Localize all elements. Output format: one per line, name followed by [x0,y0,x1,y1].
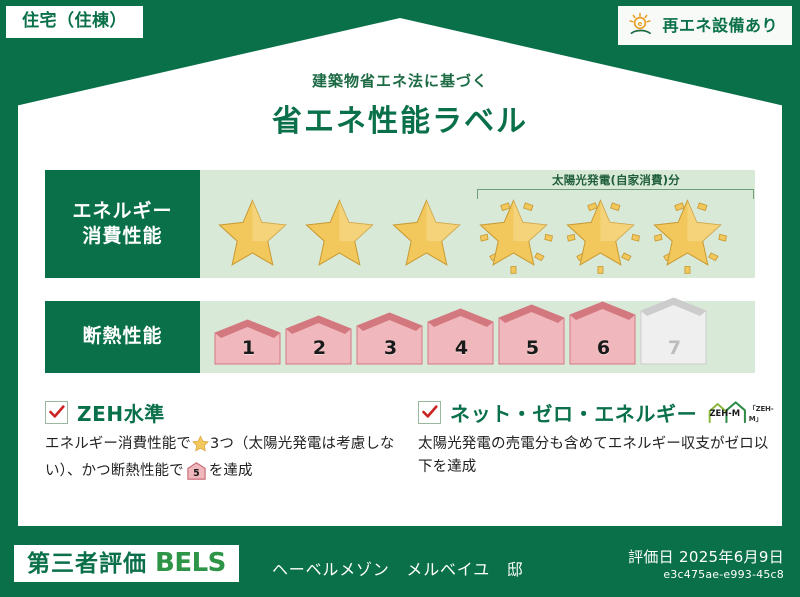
label-title: 省エネ性能ラベル [0,96,800,140]
star-solar [473,197,559,275]
bels-badge: 第三者評価 BELS [14,545,239,582]
evaluation-id: e3c475ae-e993-45c8 [663,568,784,581]
criterion-zeh-header: ZEH水準 [45,398,420,426]
star-filled [212,197,298,275]
insulation-level-achieved: 5 [498,303,567,366]
criterion-zeh: ZEH水準 エネルギー消費性能で 3つ（太陽光発電は考慮しない）、かつ断熱性能で… [45,398,420,489]
insulation-level-achieved: 6 [569,300,638,366]
criterion-zeh-body: エネルギー消費性能で 3つ（太陽光発電は考慮しない）、かつ断熱性能で 5 を達成 [45,433,420,489]
criterion-nze-title: ネット・ゼロ・エネルギー [450,398,697,427]
insulation-level-number: 5 [498,337,567,359]
criterion-nze-header: ネット・ゼロ・エネルギー ZEH-M 「ZEH-M」 [418,398,778,426]
star-rating-group [200,198,755,274]
label-subtitle: 建築物省エネ法に基づく [0,70,800,91]
star-solar [560,197,646,275]
building-type-chip: 住宅（住棟） [6,6,143,38]
energy-performance-row: エネルギー 消費性能 太陽光発電(自家消費)分 [45,170,755,278]
label-footer: 第三者評価 BELS ヘーベルメゾン メルベイユ 邸 評価日 2025年6月9日… [0,534,800,597]
insulation-level-achieved: 1 [214,318,283,366]
zeh-m-logo-text: ZEH-M [710,408,741,418]
criterion-zeh-text-pre: エネルギー消費性能で [45,436,191,452]
star-filled [299,197,385,275]
checkbox-zeh[interactable] [45,401,68,424]
renewable-equipment-label: 再エネ設備あり [662,18,778,34]
zeh-m-logo: ZEH-M 「ZEH-M」 [708,398,781,426]
insulation-level-number: 4 [427,337,496,359]
insulation-level-achieved: 2 [285,314,354,366]
evaluation-date: 評価日 2025年6月9日 [628,546,784,567]
solar-portion-note: 太陽光発電(自家消費)分 [475,172,757,188]
insulation-level-achieved: 3 [356,311,425,366]
energy-performance-label: 住宅（住棟） e 再エネ設備あり 建築物省エネ法に基づく 省エネ性能ラベル [0,0,800,597]
inline-house-badge: 5 [187,462,206,488]
insulation-level-group: 1 2 3 4 5 [200,301,755,373]
energy-rating-area: 太陽光発電(自家消費)分 [200,170,755,278]
energy-performance-label-block: エネルギー 消費性能 [45,170,200,278]
insulation-level-number: 3 [356,337,425,359]
renewable-equipment-badge: e 再エネ設備あり [618,6,792,45]
solar-sun-icon: e [628,12,654,39]
building-type-label: 住宅（住棟） [22,11,127,31]
insulation-performance-label-block: 断熱性能 [45,301,200,373]
energy-label-line2: 消費性能 [82,224,162,249]
bels-badge-jp: 第三者評価 [27,553,147,576]
check-icon [49,405,65,419]
energy-label-line1: エネルギー [72,199,172,224]
criterion-net-zero-energy: ネット・ゼロ・エネルギー ZEH-M 「ZEH-M」 太陽光発電の売電分も含めて… [418,398,778,480]
insulation-level-number: 6 [569,337,638,359]
checkbox-net-zero-energy[interactable] [418,401,441,424]
criterion-nze-body: 太陽光発電の売電分も含めてエネルギー収支がゼロ以下を達成 [418,433,778,480]
svg-text:e: e [638,20,643,28]
zeh-m-logo-caption: 「ZEH-M」 [749,404,781,426]
building-name: ヘーベルメゾン メルベイユ 邸 [272,556,524,580]
insulation-label: 断熱性能 [82,324,162,349]
star-solar [647,197,733,275]
insulation-level-number: 2 [285,337,354,359]
insulation-level-number: 1 [214,337,283,359]
insulation-level-number: 7 [640,337,709,359]
insulation-level-achieved: 4 [427,307,496,366]
insulation-rating-area: 1 2 3 4 5 [200,301,755,373]
criterion-zeh-title: ZEH水準 [77,398,165,427]
inline-house-number: 5 [193,469,200,480]
zeh-m-house-icon: ZEH-M [708,398,747,426]
insulation-level-unachieved: 7 [640,296,709,366]
inline-star-icon [192,435,209,460]
star-filled [386,197,472,275]
criterion-zeh-text-post: を達成 [209,463,253,479]
bels-badge-en: BELS [155,550,226,576]
insulation-performance-row: 断熱性能 1 2 3 4 [45,301,755,373]
check-icon [422,405,438,419]
